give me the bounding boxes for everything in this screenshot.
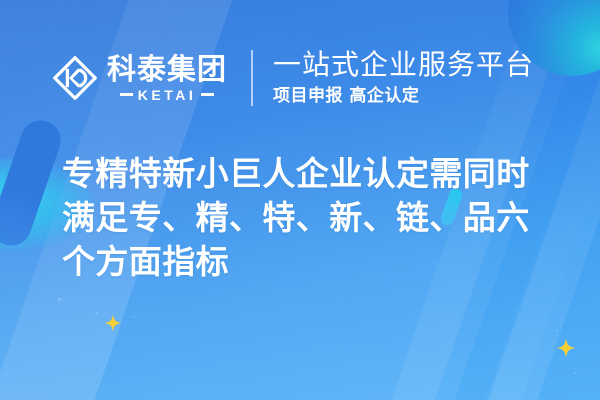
page-title: 专精特新小巨人企业认定需同时满足专、精、特、新、链、品六个方面指标 [62, 152, 540, 285]
logo-english-row: KETAI [120, 88, 214, 102]
speckle-dot-icon [574, 372, 576, 374]
banner-header: 科泰集团 KETAI 一站式企业服务平台 项目申报 高企认定 [0, 38, 600, 118]
speckle-dot-icon [58, 298, 61, 301]
speckle-dot-icon [96, 312, 98, 314]
logo-rule-right-icon [201, 93, 214, 96]
vertical-divider-icon [251, 50, 253, 106]
speckle-dot-icon [133, 316, 135, 318]
promotional-banner: 科泰集团 KETAI 一站式企业服务平台 项目申报 高企认定 专精特新小巨人企业… [0, 0, 600, 400]
header-tagline: 一站式企业服务平台 [273, 50, 534, 80]
logo-wordmark: 科泰集团 KETAI [107, 55, 227, 102]
speckle-dot-icon [556, 330, 558, 332]
company-logo[interactable]: 科泰集团 KETAI [52, 55, 227, 102]
header-subtitle: 项目申报 高企认定 [273, 87, 534, 105]
logo-english-name: KETAI [138, 88, 196, 102]
four-point-sparkle-icon [104, 314, 122, 332]
rounded-capsule-icon [0, 115, 66, 251]
ketai-diamond-kd-logo-icon [52, 55, 98, 101]
logo-chinese-name: 科泰集团 [107, 55, 227, 84]
logo-rule-left-icon [120, 93, 133, 96]
four-point-sparkle-icon [556, 338, 576, 358]
header-text-block: 一站式企业服务平台 项目申报 高企认定 [273, 50, 534, 106]
